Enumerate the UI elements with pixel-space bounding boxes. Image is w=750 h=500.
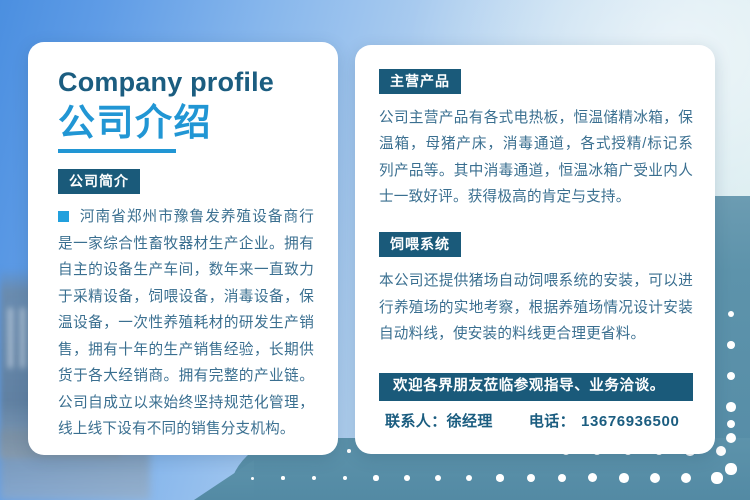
phone-number[interactable]: 13676936500 bbox=[581, 413, 679, 430]
section-badge-feeding-system: 饲喂系统 bbox=[379, 232, 461, 257]
contact-row: 联系人：徐经理 电话：13676936500 bbox=[379, 410, 693, 431]
contact-person-name: 徐经理 bbox=[447, 410, 493, 431]
company-profile-card: Company profile 公司介绍 公司简介 河南省郑州市豫鲁发养殖设备商… bbox=[28, 42, 338, 455]
title-underline-rule bbox=[58, 149, 176, 153]
welcome-banner: 欢迎各界朋友莅临参观指导、业务洽谈。 bbox=[379, 373, 693, 401]
poster-canvas: Company profile 公司介绍 公司简介 河南省郑州市豫鲁发养殖设备商… bbox=[0, 0, 750, 500]
square-bullet-icon bbox=[58, 211, 69, 222]
contact-person-label: 联系人： bbox=[385, 410, 447, 431]
page-title-chinese: 公司介绍 bbox=[58, 100, 314, 146]
phone-label: 电话： bbox=[529, 410, 575, 431]
feeding-system-paragraph: 本公司还提供猪场自动饲喂系统的安装，可以进行养殖场的实地考察，根据养殖场情况设计… bbox=[379, 268, 693, 347]
feeding-system-text: 本公司还提供猪场自动饲喂系统的安装，可以进行养殖场的实地考察，根据养殖场情况设计… bbox=[379, 273, 693, 342]
page-title-english: Company profile bbox=[58, 68, 314, 98]
section-badge-company-intro: 公司简介 bbox=[58, 169, 140, 194]
main-products-paragraph: 公司主营产品有各式电热板，恒温储精冰箱，保温箱，母猪产床，消毒通道，各式授精/标… bbox=[379, 105, 693, 210]
company-intro-paragraph: 河南省郑州市豫鲁发养殖设备商行是一家综合性畜牧器材生产企业。拥有自主的设备生产车… bbox=[58, 204, 314, 443]
main-products-text: 公司主营产品有各式电热板，恒温储精冰箱，保温箱，母猪产床，消毒通道，各式授精/标… bbox=[379, 110, 693, 205]
company-intro-text: 河南省郑州市豫鲁发养殖设备商行是一家综合性畜牧器材生产企业。拥有自主的设备生产车… bbox=[58, 209, 314, 437]
products-and-contact-card: 主营产品 公司主营产品有各式电热板，恒温储精冰箱，保温箱，母猪产床，消毒通道，各… bbox=[355, 45, 715, 454]
section-badge-main-products: 主营产品 bbox=[379, 69, 461, 94]
